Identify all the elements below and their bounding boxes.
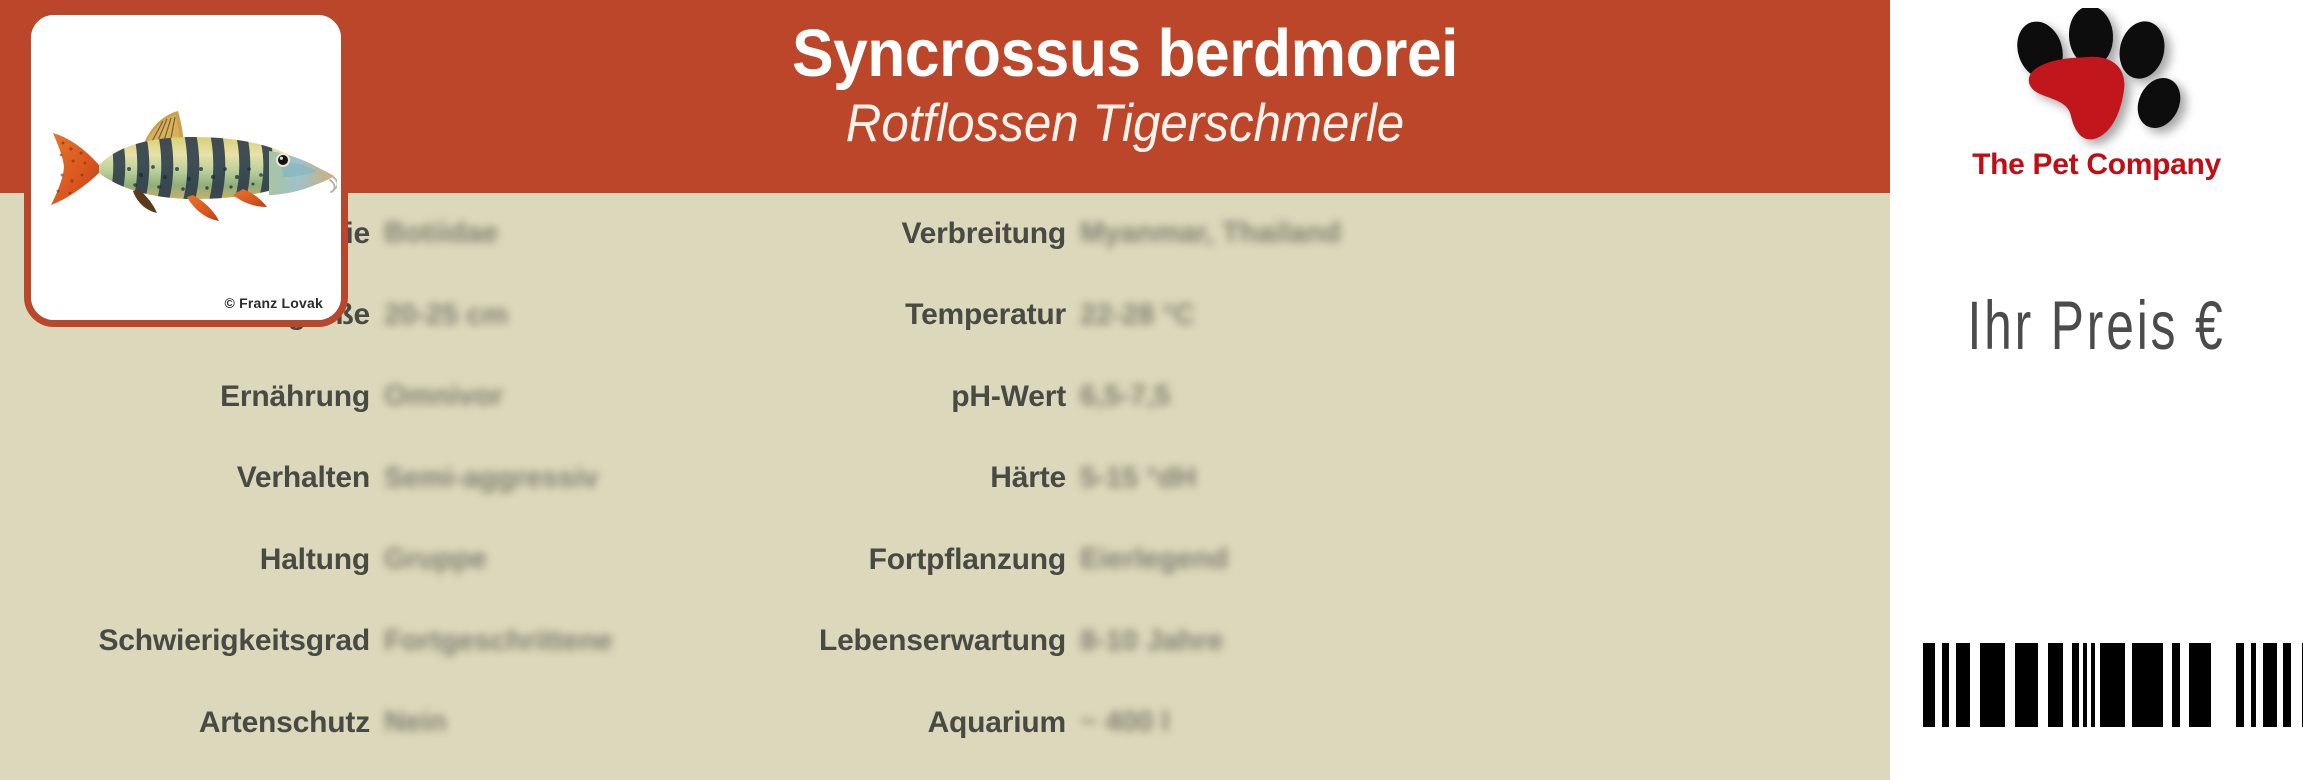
spec-value: Semi-aggressiv xyxy=(384,462,704,495)
barcode-bar xyxy=(2072,643,2079,727)
species-photo-card: © Franz Lovak xyxy=(24,8,348,327)
price-label-text: Ihr Preis € xyxy=(1948,286,2245,365)
barcode-gap xyxy=(2180,643,2189,727)
brand-logo: The Pet Company xyxy=(1890,8,2303,208)
barcode-bar xyxy=(2048,643,2063,727)
species-info-panel: Syncrossus berdmorei Rotflossen Tigersch… xyxy=(0,0,1890,780)
barcode-bar xyxy=(1980,643,2005,727)
spec-label: Artenschutz xyxy=(76,706,384,740)
spec-label: pH-Wert xyxy=(772,380,1080,414)
barcode-gap xyxy=(2291,643,2302,727)
spec-value: 6,5-7,5 xyxy=(1080,380,1400,413)
spec-value: 22-28 °C xyxy=(1080,299,1400,332)
price-label-card: Syncrossus berdmorei Rotflossen Tigersch… xyxy=(0,0,2303,780)
barcode xyxy=(1923,643,2303,727)
spec-value: Omnivor xyxy=(384,380,704,413)
photo-credit: © Franz Lovak xyxy=(225,295,324,311)
spec-value: Fortgeschrittene xyxy=(384,625,704,658)
spec-label: Temperatur xyxy=(772,298,1080,332)
barcode-gap xyxy=(1970,643,1980,727)
spec-value: Myanmar, Thailand xyxy=(1080,217,1400,250)
spec-value: Nein xyxy=(384,706,704,739)
barcode-gap xyxy=(2211,643,2236,727)
barcode-bar xyxy=(1942,643,1949,727)
spec-label: Ernährung xyxy=(76,380,384,414)
brand-name: The Pet Company xyxy=(1890,148,2303,182)
species-photo: © Franz Lovak xyxy=(31,15,341,320)
spec-label: Härte xyxy=(772,461,1080,495)
spec-value: 8-10 Jahre xyxy=(1080,625,1400,658)
paw-print-icon xyxy=(1984,8,2204,150)
barcode-gap xyxy=(2005,643,2015,727)
spec-value: 20-25 cm xyxy=(384,299,704,332)
barcode-gap xyxy=(2063,643,2072,727)
barcode-bar xyxy=(2263,643,2277,727)
barcode-bar xyxy=(2236,643,2244,727)
barcode-gap xyxy=(2163,643,2172,727)
fish-illustration xyxy=(37,103,337,231)
spec-label: Haltung xyxy=(76,543,384,577)
barcode-gap xyxy=(1935,643,1942,727)
barcode-bar xyxy=(1923,643,1935,727)
barcode-bar xyxy=(2172,643,2180,727)
spec-label: Verbreitung xyxy=(772,217,1080,251)
spec-value: Eierlegend xyxy=(1080,543,1400,576)
spec-label: Fortpflanzung xyxy=(772,543,1080,577)
barcode-bar xyxy=(2015,643,2038,727)
spec-value: 5-15 °dH xyxy=(1080,462,1400,495)
spec-value: Botiidae xyxy=(384,217,704,250)
scientific-name: Syncrossus berdmorei xyxy=(414,18,1837,90)
barcode-gap xyxy=(2125,643,2132,727)
spec-label: Schwierigkeitsgrad xyxy=(76,624,384,658)
barcode-bar xyxy=(1956,643,1970,727)
spec-value: Gruppe xyxy=(384,543,704,576)
spec-value: ~ 400 l xyxy=(1080,706,1400,739)
spec-label: Verhalten xyxy=(76,461,384,495)
barcode-gap xyxy=(2256,643,2263,727)
spec-label: Lebenserwartung xyxy=(772,624,1080,658)
barcode-bar xyxy=(2100,643,2125,727)
barcode-gap xyxy=(1949,643,1956,727)
barcode-gap xyxy=(2038,643,2048,727)
barcode-bar xyxy=(2283,643,2291,727)
title-block: Syncrossus berdmorei Rotflossen Tigersch… xyxy=(360,18,1890,155)
common-name: Rotflossen Tigerschmerle xyxy=(414,94,1837,155)
barcode-bar xyxy=(2132,643,2163,727)
barcode-bar xyxy=(2189,643,2211,727)
price-panel: The Pet Company Ihr Preis € xyxy=(1890,0,2303,780)
spec-label: Aquarium xyxy=(772,706,1080,740)
barcode-gap xyxy=(2244,643,2251,727)
